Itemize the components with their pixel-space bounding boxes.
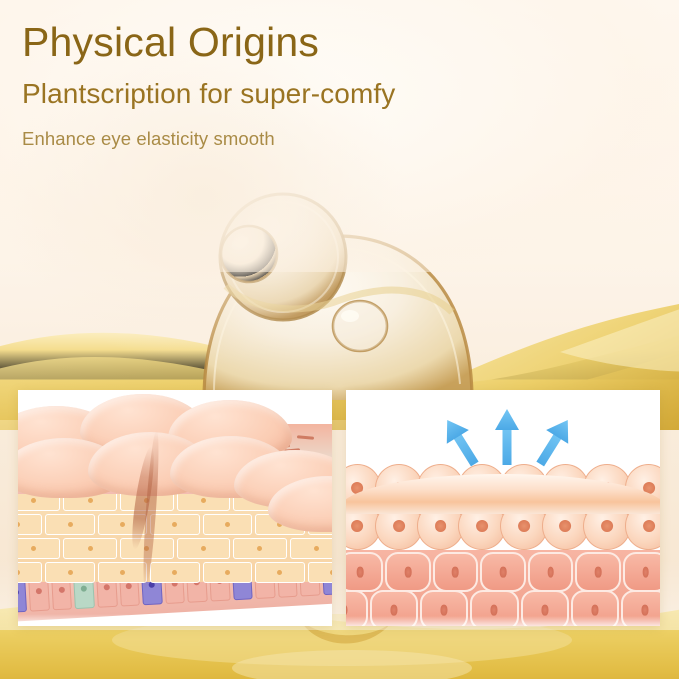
wrinkled-skin-panel[interactable]: [18, 390, 332, 626]
smooth-skin-panel[interactable]: [346, 390, 660, 626]
arrow-up-right-icon: [536, 415, 572, 469]
panel-bottom-fade: [346, 616, 660, 626]
page-title: Physical Origins: [22, 22, 319, 63]
arrow-up-left-icon: [443, 415, 479, 469]
page-tagline: Enhance eye elasticity smooth: [22, 130, 275, 149]
panel-bottom-fade: [18, 614, 332, 626]
promotional-poster: Physical Origins Plantscription for supe…: [0, 0, 679, 679]
arrow-up-icon: [494, 408, 520, 466]
flat-cell-row: [346, 552, 660, 588]
page-subtitle: Plantscription for super-comfy: [22, 80, 395, 108]
